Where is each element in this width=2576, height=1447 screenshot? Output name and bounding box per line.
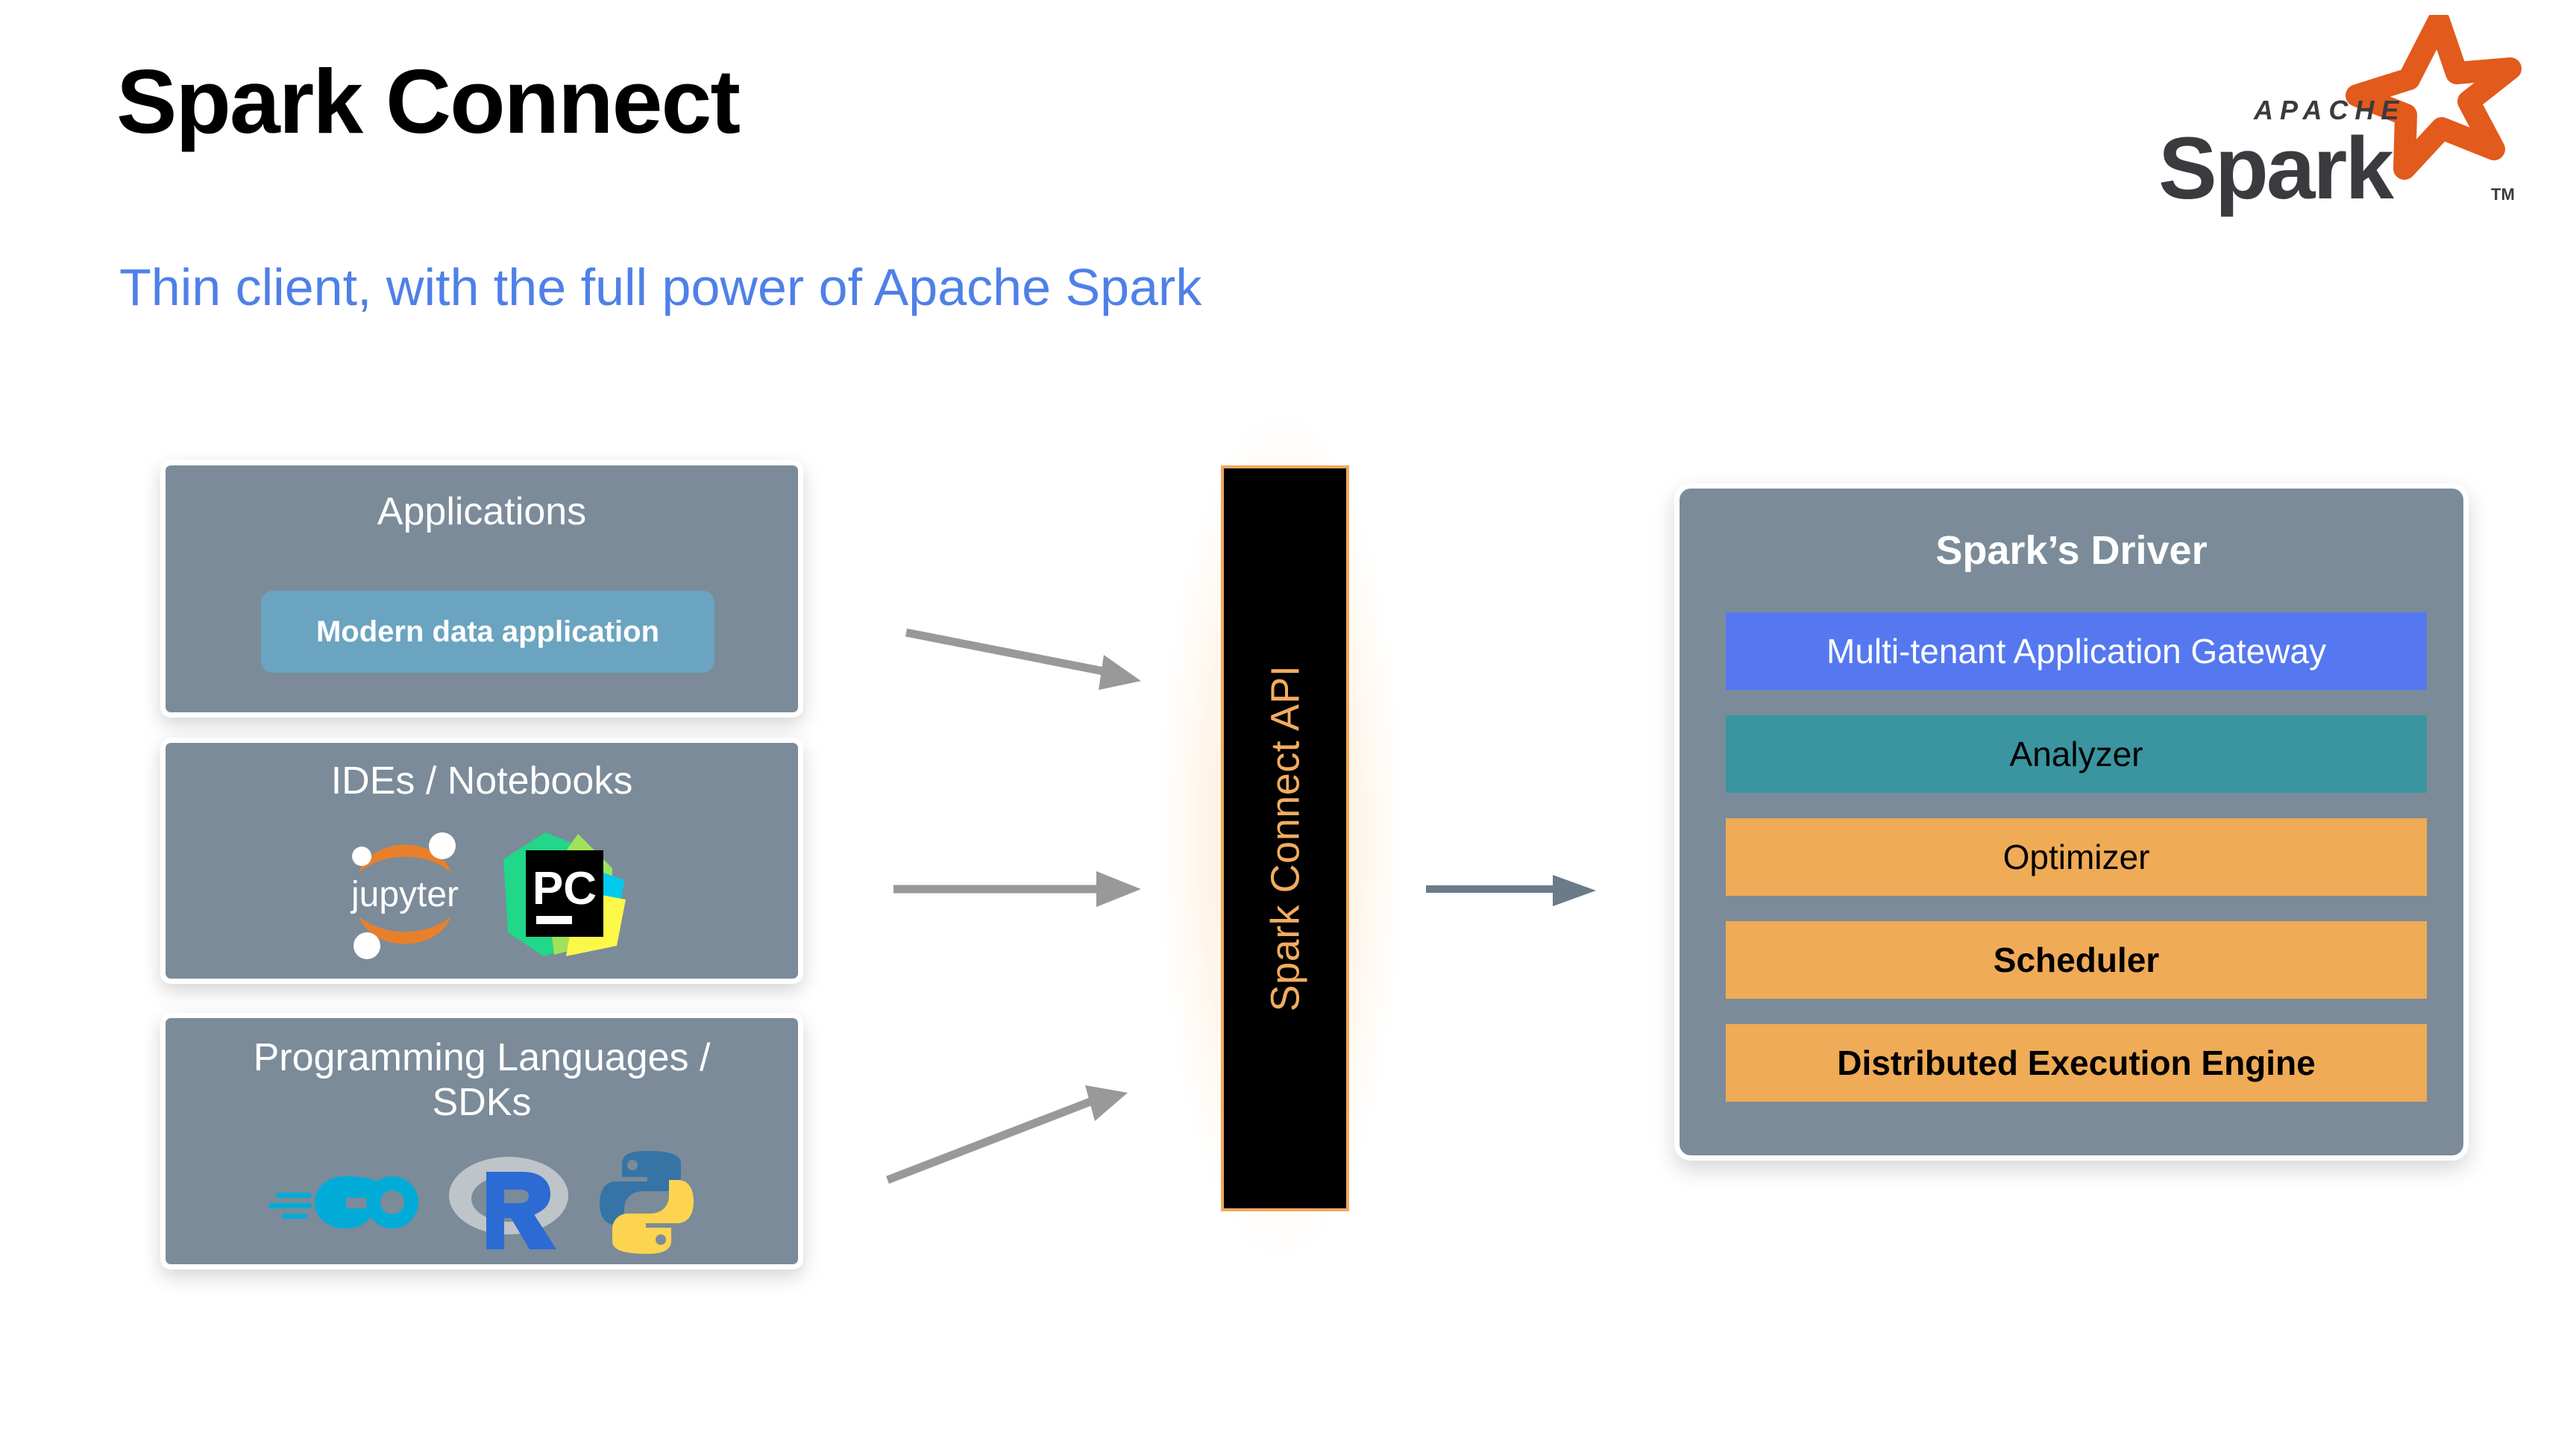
- driver-row-scheduler-label: Scheduler: [1994, 940, 2159, 980]
- card-programming-languages[interactable]: Programming Languages / SDKs: [160, 1013, 803, 1269]
- pycharm-logo: PC: [500, 828, 632, 959]
- driver-row-scheduler[interactable]: Scheduler: [1726, 921, 2427, 999]
- spark-connect-api-bar[interactable]: Spark Connect API: [1221, 465, 1349, 1211]
- python-logo: [595, 1146, 698, 1258]
- arrow-api-to-driver: [1426, 875, 1596, 906]
- jupyter-wordmark: jupyter: [350, 875, 459, 914]
- pycharm-wordmark: PC: [533, 863, 597, 914]
- card-applications[interactable]: Applications Modern data application: [160, 460, 803, 718]
- page-subtitle: Thin client, with the full power of Apac…: [119, 261, 1201, 313]
- card-programming-languages-title: Programming Languages / SDKs: [166, 1036, 798, 1126]
- driver-row-analyzer-label: Analyzer: [2010, 734, 2143, 774]
- pycharm-underscore-icon: [536, 916, 572, 924]
- driver-row-execution-engine-label: Distributed Execution Engine: [1837, 1043, 2316, 1083]
- modern-data-application-chip[interactable]: Modern data application: [261, 591, 714, 673]
- go-letter-o-inner: [380, 1190, 404, 1214]
- page-title: Spark Connect: [116, 56, 739, 147]
- driver-row-optimizer[interactable]: Optimizer: [1726, 818, 2427, 896]
- card-langs-title-line1: Programming Languages /: [254, 1036, 711, 1079]
- card-spark-driver[interactable]: Spark’s Driver Multi-tenant Application …: [1674, 483, 2469, 1161]
- r-logo: [446, 1146, 571, 1258]
- jupyter-dot-right: [429, 832, 456, 859]
- driver-row-execution-engine[interactable]: Distributed Execution Engine: [1726, 1024, 2427, 1102]
- arrow-languages-to-api: [888, 1085, 1128, 1180]
- arrow-applications-to-api: [906, 633, 1141, 690]
- card-ides-notebooks[interactable]: IDEs / Notebooks jupyter PC: [160, 738, 803, 984]
- driver-row-optimizer-label: Optimizer: [2003, 837, 2150, 877]
- jupyter-dot-bottom: [354, 932, 380, 959]
- spark-connect-api-label: Spark Connect API: [1262, 665, 1308, 1012]
- spark-wordmark: Spark: [2158, 119, 2394, 218]
- card-applications-title: Applications: [166, 490, 798, 535]
- go-logo: [266, 1161, 422, 1243]
- ide-logo-row: jupyter PC: [166, 820, 798, 967]
- trademark-mark: TM: [2491, 185, 2515, 204]
- card-ides-notebooks-title: IDEs / Notebooks: [166, 759, 798, 804]
- go-speed-lines-icon: [268, 1193, 312, 1219]
- jupyter-logo: jupyter: [332, 820, 478, 967]
- jupyter-dot-left: [352, 847, 371, 866]
- driver-row-gateway-label: Multi-tenant Application Gateway: [1826, 631, 2326, 671]
- language-logo-row: [166, 1146, 798, 1258]
- driver-row-gateway[interactable]: Multi-tenant Application Gateway: [1726, 612, 2427, 690]
- card-langs-title-line2: SDKs: [433, 1081, 532, 1124]
- spark-driver-row-list: Multi-tenant Application Gateway Analyze…: [1726, 612, 2427, 1127]
- apache-spark-logo: APACHE Spark TM: [2143, 15, 2531, 224]
- driver-row-analyzer[interactable]: Analyzer: [1726, 715, 2427, 793]
- arrow-ides-to-api: [893, 871, 1141, 907]
- spark-driver-title: Spark’s Driver: [1680, 527, 2463, 574]
